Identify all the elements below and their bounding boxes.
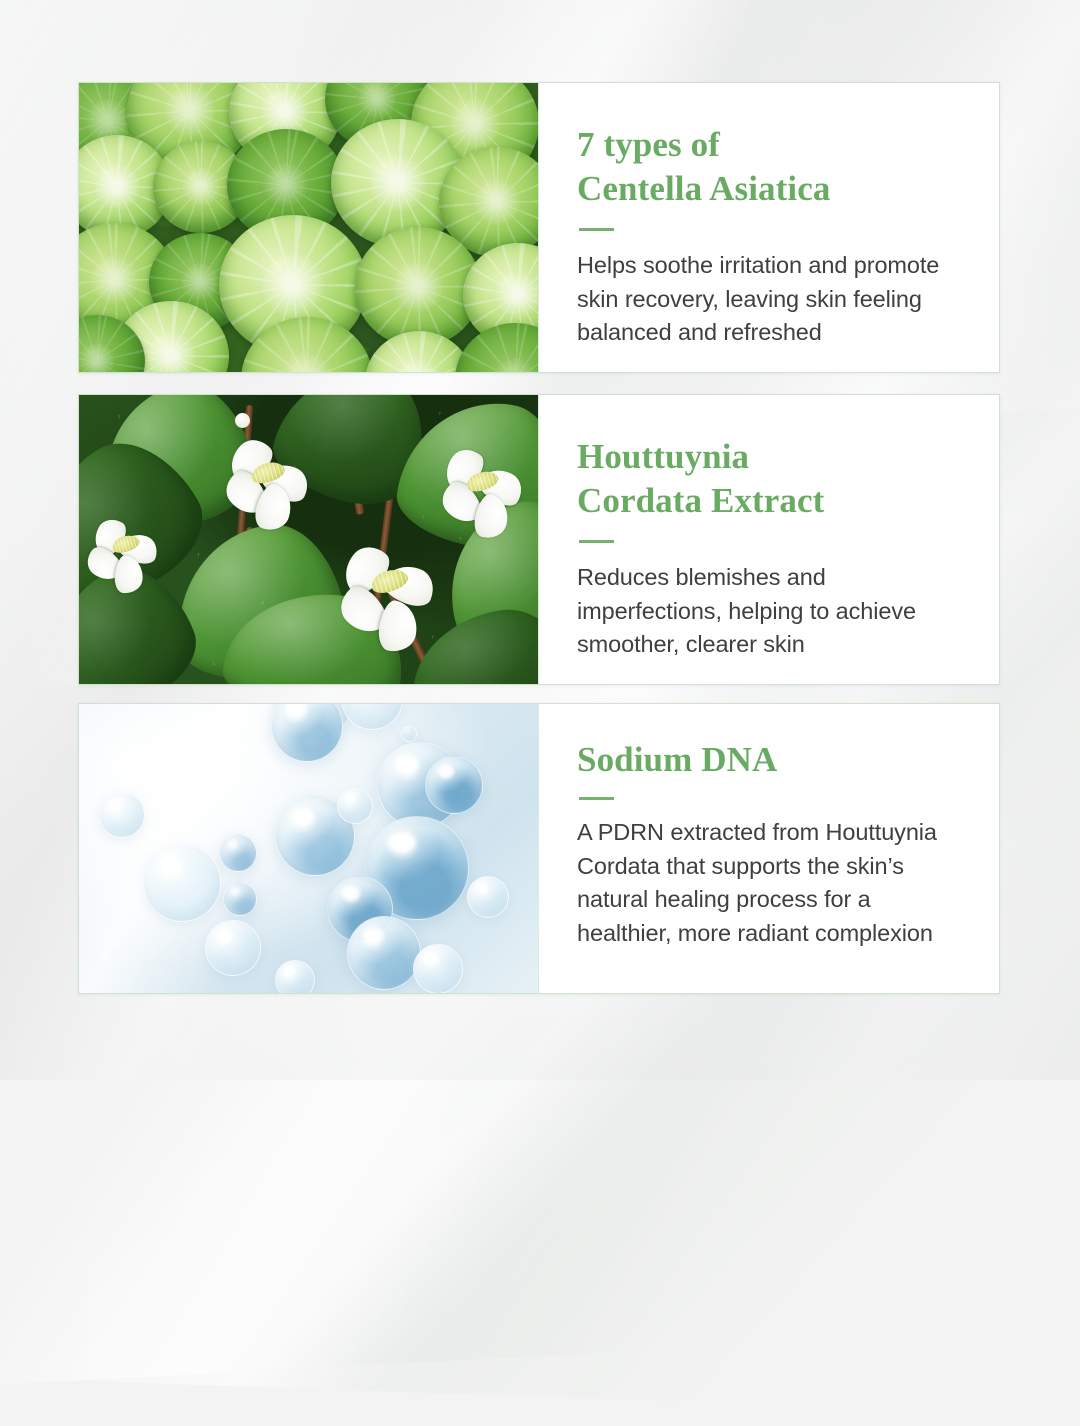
title-divider-rule xyxy=(579,540,614,543)
houttuynia-flower-scene xyxy=(79,395,538,684)
water-bubble xyxy=(425,756,483,814)
water-bubble xyxy=(219,834,257,872)
water-bubble xyxy=(205,920,261,976)
card-title-line-1: Houttuynia xyxy=(577,435,965,479)
centella-asiatica-text-panel: 7 types of Centella Asiatica Helps sooth… xyxy=(538,83,999,372)
title-divider-rule xyxy=(579,797,614,800)
card-title-line-2: Cordata Extract xyxy=(577,479,965,523)
water-bubble xyxy=(413,944,463,993)
centella-asiatica-image xyxy=(79,83,538,372)
ingredient-card-sodium-dna: Sodium DNA A PDRN extracted from Houttuy… xyxy=(78,703,1000,994)
houttuynia-cordata-text-panel: Houttuynia Cordata Extract Reduces blemi… xyxy=(538,395,999,684)
card-description-sodium-dna: A PDRN extracted from Houttuynia Cordata… xyxy=(577,816,965,950)
water-bubble xyxy=(223,882,257,916)
water-bubble-scene xyxy=(79,704,538,993)
card-title-line-2: Centella Asiatica xyxy=(577,167,965,211)
water-bubble xyxy=(143,844,221,922)
card-title-line-1: Sodium DNA xyxy=(577,738,965,782)
water-bubble xyxy=(347,916,421,990)
ingredient-card-houttuynia-cordata: Houttuynia Cordata Extract Reduces blemi… xyxy=(78,394,1000,685)
water-bubble xyxy=(401,726,417,742)
card-description-houttuynia: Reduces blemishes and imperfections, hel… xyxy=(577,561,965,662)
leaf-vein xyxy=(294,395,408,493)
card-title-centella: 7 types of Centella Asiatica xyxy=(577,123,965,211)
pennywort-leaf xyxy=(355,227,481,347)
water-bubble xyxy=(337,788,373,824)
card-description-centella: Helps soothe irritation and promote skin… xyxy=(577,249,965,350)
title-divider-rule xyxy=(579,228,614,231)
sodium-dna-text-panel: Sodium DNA A PDRN extracted from Houttuy… xyxy=(538,704,999,993)
water-bubble xyxy=(341,704,403,730)
sodium-dna-image xyxy=(79,704,538,993)
card-title-sodium-dna: Sodium DNA xyxy=(577,738,965,782)
water-bubble xyxy=(467,876,509,918)
card-title-line-1: 7 types of xyxy=(577,123,965,167)
ingredient-card-centella-asiatica: 7 types of Centella Asiatica Helps sooth… xyxy=(78,82,1000,373)
houttuynia-cordata-image xyxy=(79,395,538,684)
water-bubble xyxy=(99,792,145,838)
centella-leaf-scene xyxy=(79,83,538,372)
water-bubble xyxy=(275,960,315,993)
card-title-houttuynia: Houttuynia Cordata Extract xyxy=(577,435,965,523)
flower-bud xyxy=(235,413,250,428)
